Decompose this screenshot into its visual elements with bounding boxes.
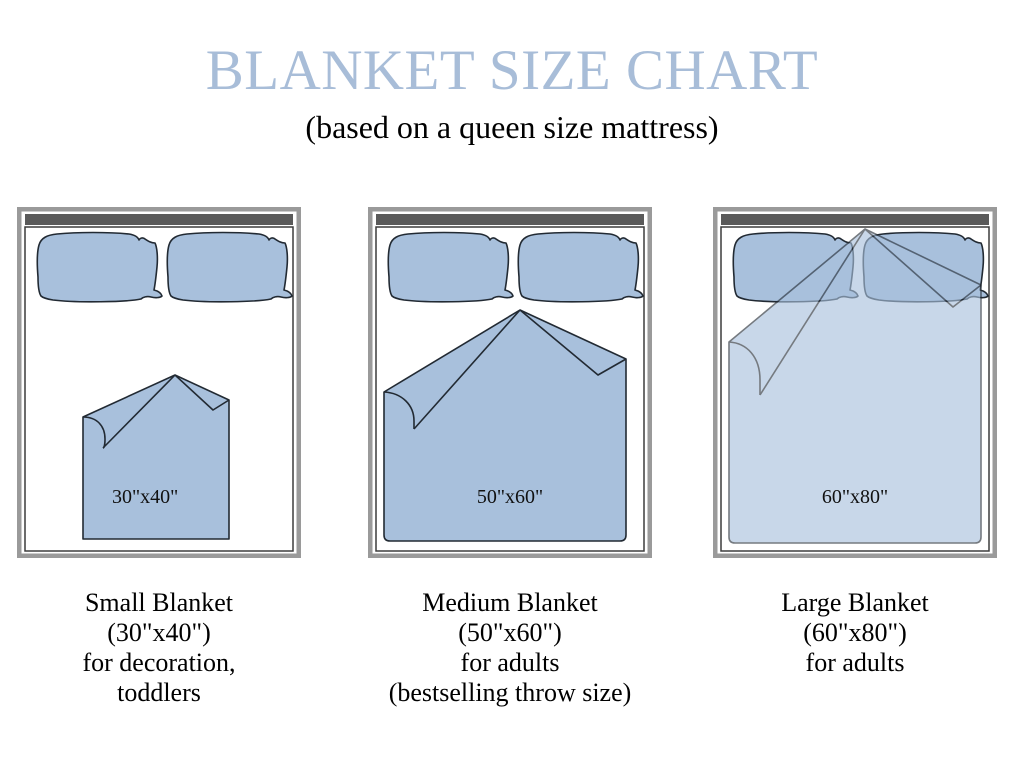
caption-line: toddlers <box>0 678 329 708</box>
caption-line: for decoration, <box>0 648 329 678</box>
bed-caption-large: Large Blanket (60"x80") for adults <box>685 588 1024 678</box>
pillow-left <box>388 233 513 302</box>
bed-caption-small: Small Blanket (30"x40") for decoration, … <box>0 588 329 708</box>
caption-line: (bestselling throw size) <box>340 678 680 708</box>
bed-illustration-medium <box>368 207 652 558</box>
page-subtitle: (based on a queen size mattress) <box>0 108 1024 146</box>
bed-illustration-small <box>17 207 301 558</box>
caption-line: Medium Blanket <box>340 588 680 618</box>
bed-diagram-medium: 50"x60" <box>368 207 652 558</box>
caption-line: for adults <box>685 648 1024 678</box>
bed-diagram-large: 60"x80" <box>713 207 997 558</box>
caption-line: for adults <box>340 648 680 678</box>
caption-line: (50"x60") <box>340 618 680 648</box>
caption-line: (30"x40") <box>0 618 329 648</box>
bed-illustration-large <box>713 207 997 558</box>
pillow-right <box>167 233 292 302</box>
bed-diagram-small: 30"x40" <box>17 207 301 558</box>
caption-line: (60"x80") <box>685 618 1024 648</box>
bed-headboard <box>721 214 989 225</box>
pillow-right <box>518 233 643 302</box>
page-title: BLANKET SIZE CHART <box>0 40 1024 102</box>
caption-line: Large Blanket <box>685 588 1024 618</box>
bed-headboard <box>376 214 644 225</box>
bed-caption-medium: Medium Blanket (50"x60") for adults (bes… <box>340 588 680 708</box>
bed-headboard <box>25 214 293 225</box>
pillow-left <box>37 233 162 302</box>
caption-line: Small Blanket <box>0 588 329 618</box>
